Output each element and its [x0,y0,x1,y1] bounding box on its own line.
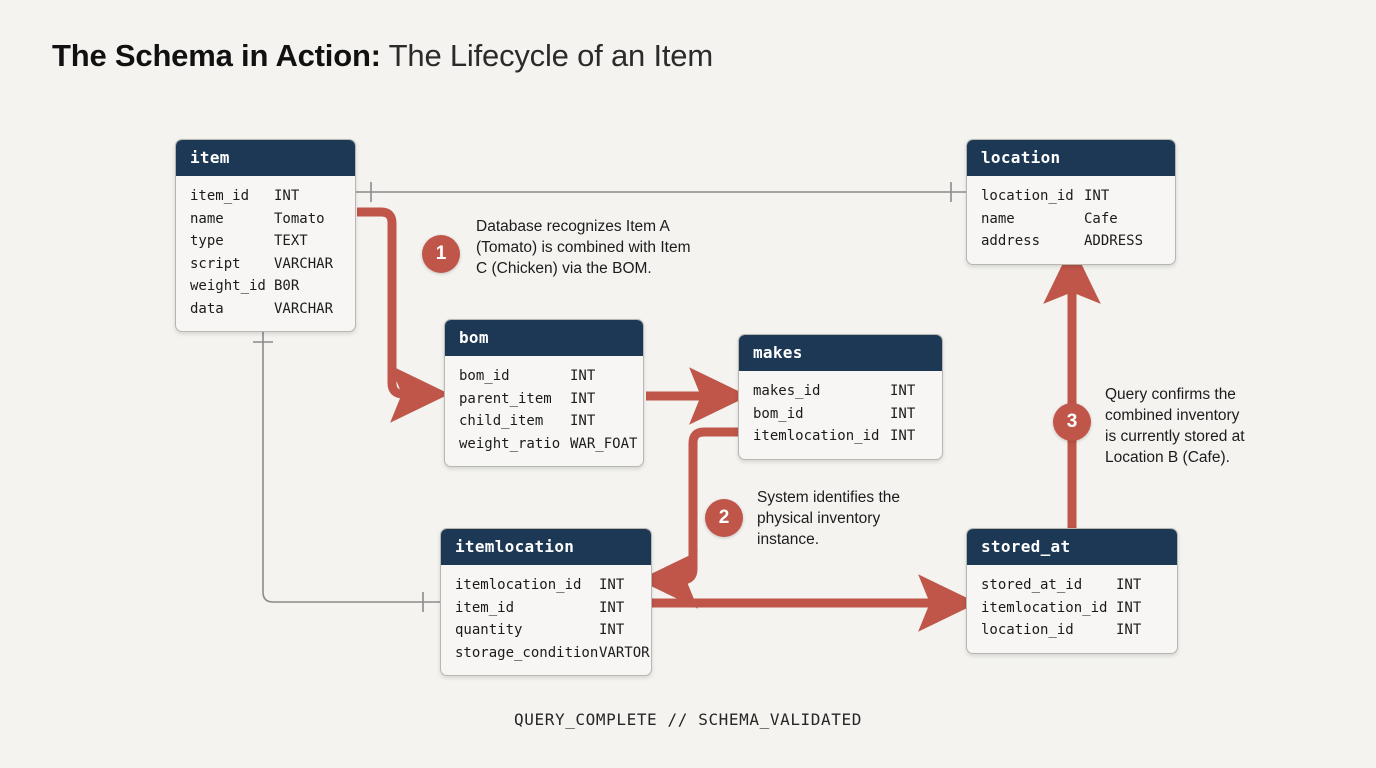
field-type: INT [1116,574,1141,597]
annotation-line: (Tomato) is combined with Item [476,237,736,258]
field-type: WAR_FOAT [570,433,637,456]
entity-table-makes[interactable]: makes makes_id INT bom_id INT itemlocati… [738,334,943,460]
table-row: weight_ratio WAR_FOAT [459,433,629,456]
field-name: parent_item [459,388,570,411]
entity-header-item: item [176,140,355,176]
field-name: makes_id [753,380,890,403]
table-row: name Cafe [981,208,1161,231]
relation-item-itemlocation [253,327,440,612]
table-row: child_item INT [459,410,629,433]
table-row: data VARCHAR [190,298,341,321]
annotation-line: Location B (Cafe). [1105,447,1305,468]
annotation-line: Database recognizes Item A [476,216,736,237]
relation-item-location [356,182,966,202]
field-type: INT [1116,619,1141,642]
table-row: type TEXT [190,230,341,253]
entity-header-bom: bom [445,320,643,356]
field-name: name [190,208,274,231]
field-type: INT [570,388,595,411]
step-badge-2: 2 [705,499,743,537]
field-name: quantity [455,619,599,642]
table-row: weight_id B0R [190,275,341,298]
annotation-line: physical inventory [757,508,977,529]
field-type: INT [890,403,915,426]
field-type: VARCHAR [274,298,333,321]
field-name: name [981,208,1084,231]
entity-header-stored-at: stored_at [967,529,1177,565]
field-type: Cafe [1084,208,1118,231]
field-name: location_id [981,619,1116,642]
annotation-line: System identifies the [757,487,977,508]
entity-body-stored-at: stored_at_id INT itemlocation_id INT loc… [967,565,1177,653]
field-name: item_id [455,597,599,620]
step-badge-3: 3 [1053,403,1091,441]
field-type: B0R [274,275,299,298]
table-row: location_id INT [981,619,1163,642]
field-name: location_id [981,185,1084,208]
field-name: data [190,298,274,321]
field-name: stored_at_id [981,574,1116,597]
entity-body-itemlocation: itemlocation_id INT item_id INT quantity… [441,565,651,675]
annotation-line: instance. [757,529,977,550]
entity-table-itemlocation[interactable]: itemlocation itemlocation_id INT item_id… [440,528,652,676]
entity-header-itemlocation: itemlocation [441,529,651,565]
entity-header-location: location [967,140,1175,176]
entity-table-stored-at[interactable]: stored_at stored_at_id INT itemlocation_… [966,528,1178,654]
table-row: stored_at_id INT [981,574,1163,597]
flow-arrow-item-to-bom [357,212,418,394]
field-name: item_id [190,185,274,208]
table-row: makes_id INT [753,380,928,403]
field-name: weight_ratio [459,433,570,456]
table-row: name Tomato [190,208,341,231]
field-name: storage_condition [455,642,599,665]
step-annotation-1: Database recognizes Item A (Tomato) is c… [476,216,736,279]
field-type: INT [570,410,595,433]
field-name: bom_id [459,365,570,388]
field-name: script [190,253,274,276]
field-type: INT [1116,597,1141,620]
table-row: storage_condition VARTOR [455,642,637,665]
entity-body-makes: makes_id INT bom_id INT itemlocation_id … [739,371,942,459]
entity-table-location[interactable]: location location_id INT name Cafe addre… [966,139,1176,265]
entity-body-item: item_id INT name Tomato type TEXT script… [176,176,355,331]
field-type: INT [890,425,915,448]
entity-body-bom: bom_id INT parent_item INT child_item IN… [445,356,643,466]
step-annotation-2: System identifies the physical inventory… [757,487,977,550]
annotation-line: Query confirms the [1105,384,1305,405]
table-row: parent_item INT [459,388,629,411]
table-row: location_id INT [981,185,1161,208]
annotation-line: combined inventory [1105,405,1305,426]
field-type: TEXT [274,230,308,253]
table-row: itemlocation_id INT [753,425,928,448]
field-name: weight_id [190,275,274,298]
table-row: script VARCHAR [190,253,341,276]
field-type: INT [1084,185,1109,208]
table-row: bom_id INT [459,365,629,388]
field-name: address [981,230,1084,253]
entity-table-item[interactable]: item item_id INT name Tomato type TEXT s… [175,139,356,332]
field-type: INT [274,185,299,208]
entity-table-bom[interactable]: bom bom_id INT parent_item INT child_ite… [444,319,644,467]
field-type: ADDRESS [1084,230,1143,253]
table-row: address ADDRESS [981,230,1161,253]
entity-body-location: location_id INT name Cafe address ADDRES… [967,176,1175,264]
field-name: itemlocation_id [753,425,890,448]
step-annotation-3: Query confirms the combined inventory is… [1105,384,1305,468]
table-row: bom_id INT [753,403,928,426]
field-name: child_item [459,410,570,433]
field-type: VARCHAR [274,253,333,276]
table-row: item_id INT [455,597,637,620]
footer-status-text: QUERY_COMPLETE // SCHEMA_VALIDATED [0,710,1376,729]
field-name: bom_id [753,403,890,426]
field-type: VARTOR [599,642,650,665]
table-row: quantity INT [455,619,637,642]
annotation-line: C (Chicken) via the BOM. [476,258,736,279]
field-name: itemlocation_id [455,574,599,597]
entity-header-makes: makes [739,335,942,371]
table-row: itemlocation_id INT [981,597,1163,620]
field-type: INT [599,619,624,642]
table-row: item_id INT [190,185,341,208]
step-badge-1: 1 [422,235,460,273]
annotation-line: is currently stored at [1105,426,1305,447]
field-type: INT [599,597,624,620]
field-type: INT [570,365,595,388]
field-type: INT [599,574,624,597]
field-type: INT [890,380,915,403]
field-name: type [190,230,274,253]
table-row: itemlocation_id INT [455,574,637,597]
field-type: Tomato [274,208,325,231]
field-name: itemlocation_id [981,597,1116,620]
